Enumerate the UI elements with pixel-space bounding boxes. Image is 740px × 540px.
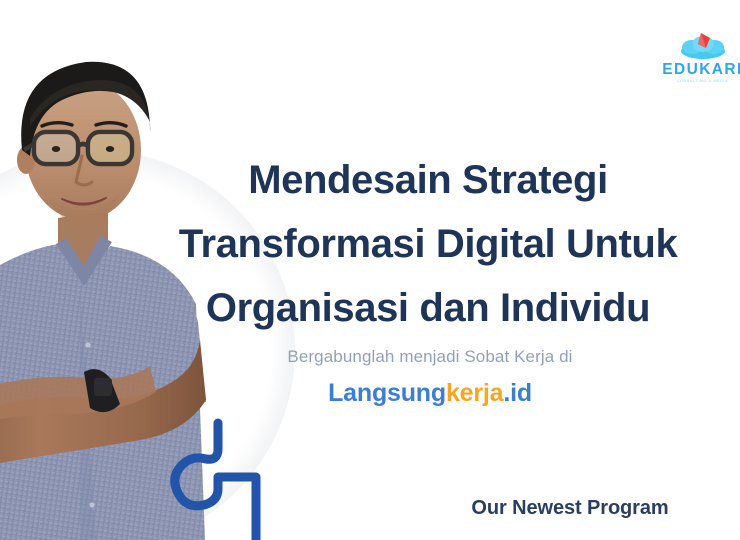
brand-part-tld: .id (503, 379, 532, 407)
edukari-tagline: CONSULTING & MEDIA (655, 80, 740, 84)
subtitle: Bergabunglah menjadi Sobat Kerja di (60, 347, 740, 367)
edukari-logo: EDUKARI CONSULTING & MEDIA (655, 30, 740, 84)
brand-name: Langsungkerja.id (60, 379, 740, 408)
puzzle-piece-outline (148, 415, 268, 540)
edukari-cloud-icon (679, 30, 727, 60)
headline-line-2: Transformasi Digital Untuk (58, 212, 740, 276)
brand-part-kerja: kerja (446, 379, 503, 407)
bottom-caption: Our Newest Program (200, 497, 740, 520)
edukari-wordmark: EDUKARI (655, 62, 740, 78)
promo-banner: EDUKARI CONSULTING & MEDIA Mendesain Str… (0, 0, 740, 540)
headline-line-1: Mendesain Strategi (58, 148, 740, 212)
brand-part-langsung: Langsung (328, 379, 446, 407)
headline-line-3: Organisasi dan Individu (58, 276, 740, 340)
headline: Mendesain Strategi Transformasi Digital … (0, 148, 740, 340)
